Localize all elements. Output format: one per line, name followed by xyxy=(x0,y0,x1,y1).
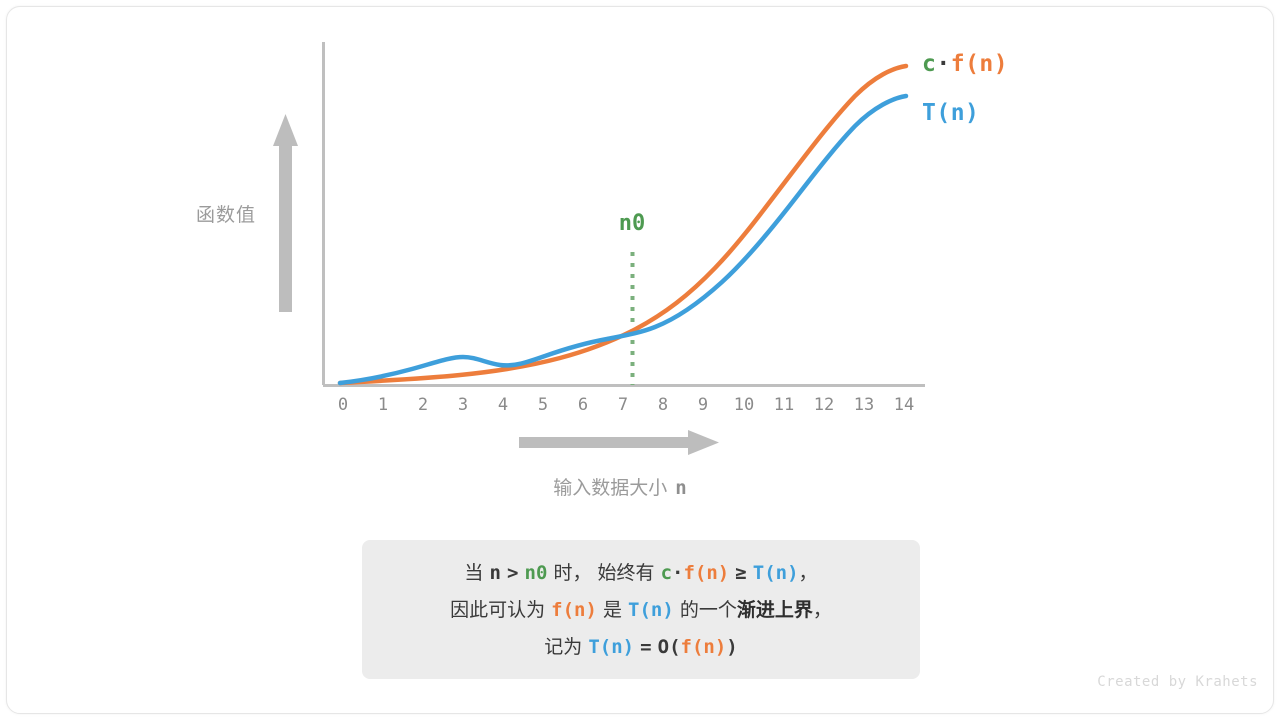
cap2-t2: 是 xyxy=(603,599,622,621)
series-label-c: c xyxy=(922,51,936,77)
cap1-fn: f(n) xyxy=(683,562,729,584)
x-tick-12: 12 xyxy=(804,395,844,415)
figure-page: 函数值 输入数据大小n 0 1 2 3 4 5 6 7 8 9 10 11 12… xyxy=(0,0,1280,720)
cap1-comma: ， xyxy=(799,562,818,584)
x-tick-9: 9 xyxy=(683,395,723,415)
x-tick-5: 5 xyxy=(523,395,563,415)
cap2-bold: 渐进上界 xyxy=(737,599,813,621)
cap3-eq: = xyxy=(640,636,651,658)
cap3-bigo: O( xyxy=(658,636,681,658)
n0-subscript: 0 xyxy=(632,211,645,236)
cap1-t1: 当 xyxy=(464,562,483,584)
cap2-t1: 因此可认为 xyxy=(450,599,545,621)
caption-line-2: 因此可认为 f(n) 是 T(n) 的一个渐进上界， xyxy=(450,592,832,629)
cap1-n: n xyxy=(489,562,500,584)
x-tick-7: 7 xyxy=(603,395,643,415)
cap2-t3: 的一个 xyxy=(680,599,737,621)
series-label-fn: f(n) xyxy=(951,51,1008,77)
x-tick-10: 10 xyxy=(724,395,764,415)
x-tick-6: 6 xyxy=(563,395,603,415)
cap3-fn: f(n) xyxy=(681,636,727,658)
cap3-close: ) xyxy=(726,636,737,658)
cap1-ge: ≥ xyxy=(735,562,746,584)
y-axis-title: 函数值 xyxy=(178,200,274,227)
n0-threshold-label: n0 xyxy=(605,211,659,236)
cap3-t1: 记为 xyxy=(544,636,582,658)
cap1-t2: 时， xyxy=(553,562,591,584)
cap2-tn: T(n) xyxy=(628,599,674,621)
x-tick-2: 2 xyxy=(403,395,443,415)
cap1-c: c xyxy=(661,562,672,584)
x-tick-1: 1 xyxy=(363,395,403,415)
cap1-n0: n xyxy=(524,562,535,584)
series-label-dot: · xyxy=(936,51,950,77)
caption-line-1: 当 n > n0 时， 始终有 c·f(n) ≥ T(n)， xyxy=(464,555,817,592)
series-label-t-n: T(n) xyxy=(922,100,979,126)
cap1-dot: · xyxy=(672,562,683,584)
x-tick-0: 0 xyxy=(323,395,363,415)
n0-base: n xyxy=(619,211,632,236)
cap3-tn: T(n) xyxy=(588,636,634,658)
x-axis-title-text: 输入数据大小 xyxy=(553,477,667,499)
x-tick-4: 4 xyxy=(483,395,523,415)
watermark: Created by Krahets xyxy=(1097,674,1258,690)
x-axis-variable: n xyxy=(675,477,686,499)
cap1-t3: 始终有 xyxy=(598,562,655,584)
cap1-n0-sub: 0 xyxy=(536,562,547,584)
cap2-comma: ， xyxy=(813,599,832,621)
cap1-tn: T(n) xyxy=(753,562,799,584)
cap1-gt: > xyxy=(507,562,518,584)
series-label-c-f-n: c·f(n) xyxy=(922,51,1008,77)
x-axis-title: 输入数据大小n xyxy=(450,473,790,500)
caption-box: 当 n > n0 时， 始终有 c·f(n) ≥ T(n)， 因此可认为 f(n… xyxy=(362,540,920,679)
caption-line-3: 记为 T(n) = O(f(n)) xyxy=(544,629,737,666)
cap2-fn: f(n) xyxy=(551,599,597,621)
x-tick-3: 3 xyxy=(443,395,483,415)
x-tick-14: 14 xyxy=(884,395,924,415)
x-tick-13: 13 xyxy=(844,395,884,415)
x-tick-8: 8 xyxy=(643,395,683,415)
x-tick-11: 11 xyxy=(764,395,804,415)
